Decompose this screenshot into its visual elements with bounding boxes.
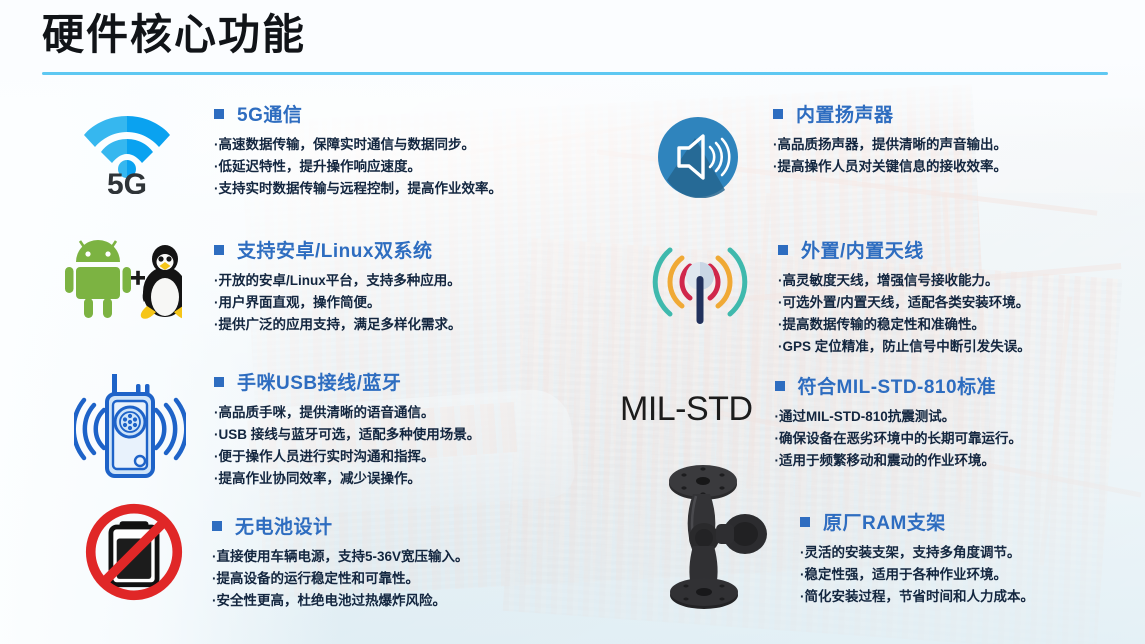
no-battery-icon-svg bbox=[84, 500, 184, 604]
bullet-square-icon bbox=[214, 377, 224, 387]
feature-milstd-text: 符合MIL-STD-810标准 ·通过MIL-STD-810抗震测试。 ·确保设… bbox=[775, 372, 1023, 472]
speaker-icon-svg bbox=[657, 116, 739, 198]
feature-nobattery-text: 无电池设计 ·直接使用车辆电源，支持5-36V宽压输入。 ·提高设备的运行稳定性… bbox=[212, 512, 469, 612]
feature-nobattery: 无电池设计 ·直接使用车辆电源，支持5-36V宽压输入。 ·提高设备的运行稳定性… bbox=[84, 498, 469, 612]
walkie-talkie-icon-svg bbox=[74, 372, 186, 480]
feature-nobattery-heading: 无电池设计 bbox=[212, 512, 469, 539]
feature-speaker-heading-label: 内置扬声器 bbox=[796, 100, 894, 127]
feature-ram-body: ·灵活的安装支架，支持多角度调节。 ·稳定性强，适用于各种作业环境。 ·简化安装… bbox=[800, 542, 1034, 608]
feature-milstd: MIL-STD 符合MIL-STD-810标准 ·通过MIL-STD-810抗震… bbox=[620, 372, 1022, 472]
bullet-square-icon bbox=[212, 521, 222, 531]
feature-5g-line: ·支持实时数据传输与远程控制，提高作业效率。 bbox=[214, 178, 502, 200]
feature-5g-heading-label: 5G通信 bbox=[237, 100, 302, 127]
feature-dualos-body: ·开放的安卓/Linux平台，支持多种应用。 ·用户界面直观，操作简便。 ·提供… bbox=[214, 270, 462, 336]
feature-speaker-body: ·高品质扬声器，提供清晰的声音输出。 ·提高操作人员对关键信息的接收效率。 bbox=[773, 134, 1007, 178]
feature-5g-text: 5G通信 ·高速数据传输，保障实时通信与数据同步。 ·低延迟特性，提升操作响应速… bbox=[214, 100, 502, 200]
feature-speaker-line: ·高品质扬声器，提供清晰的声音输出。 bbox=[773, 134, 1007, 156]
feature-mic-line: ·高品质手咪，提供清晰的语音通信。 bbox=[214, 402, 480, 424]
wifi-5g-icon-svg: 5G bbox=[84, 102, 170, 194]
feature-dualos-line: ·提供广泛的应用支持，满足多样化需求。 bbox=[214, 314, 462, 336]
feature-antenna-line: ·提高数据传输的稳定性和准确性。 bbox=[778, 314, 1031, 336]
feature-nobattery-line: ·直接使用车辆电源，支持5-36V宽压输入。 bbox=[212, 546, 469, 568]
feature-antenna-body: ·高灵敏度天线，增强信号接收能力。 ·可选外置/内置天线，适配各类安装环境。 ·… bbox=[778, 270, 1031, 357]
feature-milstd-heading-label: 符合MIL-STD-810标准 bbox=[798, 372, 997, 399]
feature-dualos: 支持安卓/Linux双系统 ·开放的安卓/Linux平台，支持多种应用。 ·用户… bbox=[64, 236, 462, 336]
feature-milstd-line: ·通过MIL-STD-810抗震测试。 bbox=[775, 406, 1023, 428]
feature-ram-line: ·稳定性强，适用于各种作业环境。 bbox=[800, 564, 1034, 586]
bullet-square-icon bbox=[775, 381, 785, 391]
feature-5g-line: ·低延迟特性，提升操作响应速度。 bbox=[214, 156, 502, 178]
feature-5g-body: ·高速数据传输，保障实时通信与数据同步。 ·低延迟特性，提升操作响应速度。 ·支… bbox=[214, 134, 502, 200]
speaker-icon bbox=[657, 116, 739, 203]
feature-speaker-line: ·提高操作人员对关键信息的接收效率。 bbox=[773, 156, 1007, 178]
feature-mic-heading: 手咪USB接线/蓝牙 bbox=[214, 368, 480, 395]
ram-mount-icon-svg bbox=[648, 462, 778, 612]
feature-5g-heading: 5G通信 bbox=[214, 100, 502, 127]
feature-ram: 原厂RAM支架 ·灵活的安装支架，支持多角度调节。 ·稳定性强，适用于各种作业环… bbox=[648, 462, 1034, 617]
antenna-icon-svg bbox=[652, 242, 748, 326]
feature-mic-text: 手咪USB接线/蓝牙 ·高品质手咪，提供清晰的语音通信。 ·USB 接线与蓝牙可… bbox=[214, 368, 480, 489]
feature-nobattery-line: ·安全性更高，杜绝电池过热爆炸风险。 bbox=[212, 590, 469, 612]
feature-speaker-heading: 内置扬声器 bbox=[773, 100, 1007, 127]
wifi-5g-icon: 5G bbox=[84, 102, 170, 199]
feature-antenna-heading-label: 外置/内置天线 bbox=[801, 236, 924, 263]
bullet-square-icon bbox=[800, 517, 810, 527]
bullet-square-icon bbox=[214, 109, 224, 119]
feature-nobattery-line: ·提高设备的运行稳定性和可靠性。 bbox=[212, 568, 469, 590]
feature-5g: 5G 5G通信 ·高速数据传输，保障实时通信与数据同步。 ·低延迟特性，提升操作… bbox=[84, 100, 502, 200]
feature-dualos-line: ·用户界面直观，操作简便。 bbox=[214, 292, 462, 314]
feature-mic: 手咪USB接线/蓝牙 ·高品质手咪，提供清晰的语音通信。 ·USB 接线与蓝牙可… bbox=[74, 368, 480, 489]
feature-dualos-heading: 支持安卓/Linux双系统 bbox=[214, 236, 462, 263]
feature-mic-line: ·USB 接线与蓝牙可选，适配多种使用场景。 bbox=[214, 424, 480, 446]
feature-milstd-heading: 符合MIL-STD-810标准 bbox=[775, 372, 1023, 399]
bullet-square-icon bbox=[773, 109, 783, 119]
feature-mic-line: ·便于操作人员进行实时沟通和指挥。 bbox=[214, 446, 480, 468]
feature-dualos-text: 支持安卓/Linux双系统 ·开放的安卓/Linux平台，支持多种应用。 ·用户… bbox=[214, 236, 462, 336]
feature-mic-line: ·提高作业协同效率，减少误操作。 bbox=[214, 468, 480, 490]
mil-std-text-icon: MIL-STD bbox=[620, 390, 753, 429]
slide-root: 硬件核心功能 5G 5G通信 ·高速数据传输，保障实时通信与数据同步。 ·低延迟… bbox=[0, 0, 1145, 644]
feature-speaker-text: 内置扬声器 ·高品质扬声器，提供清晰的声音输出。 ·提高操作人员对关键信息的接收… bbox=[773, 100, 1007, 178]
no-battery-icon bbox=[84, 500, 184, 609]
feature-antenna-heading: 外置/内置天线 bbox=[778, 236, 1031, 263]
title-divider bbox=[42, 72, 1108, 75]
feature-speaker: 内置扬声器 ·高品质扬声器，提供清晰的声音输出。 ·提高操作人员对关键信息的接收… bbox=[657, 100, 1007, 203]
bullet-square-icon bbox=[214, 245, 224, 255]
feature-antenna-line: ·高灵敏度天线，增强信号接收能力。 bbox=[778, 270, 1031, 292]
feature-ram-line: ·灵活的安装支架，支持多角度调节。 bbox=[800, 542, 1034, 564]
feature-ram-heading: 原厂RAM支架 bbox=[800, 508, 1034, 535]
feature-mic-heading-label: 手咪USB接线/蓝牙 bbox=[237, 368, 401, 395]
feature-ram-heading-label: 原厂RAM支架 bbox=[823, 508, 946, 535]
feature-ram-text: 原厂RAM支架 ·灵活的安装支架，支持多角度调节。 ·稳定性强，适用于各种作业环… bbox=[800, 508, 1034, 608]
ram-mount-icon bbox=[648, 462, 778, 617]
feature-nobattery-heading-label: 无电池设计 bbox=[235, 512, 333, 539]
feature-5g-line: ·高速数据传输，保障实时通信与数据同步。 bbox=[214, 134, 502, 156]
feature-milstd-line: ·确保设备在恶劣环境中的长期可靠运行。 bbox=[775, 428, 1023, 450]
android-linux-icon bbox=[64, 240, 182, 329]
feature-ram-line: ·简化安装过程，节省时间和人力成本。 bbox=[800, 586, 1034, 608]
bullet-square-icon bbox=[778, 245, 788, 255]
antenna-icon bbox=[652, 242, 748, 331]
android-linux-icon-svg bbox=[64, 240, 182, 324]
feature-dualos-heading-label: 支持安卓/Linux双系统 bbox=[237, 236, 432, 263]
walkie-talkie-icon bbox=[74, 372, 186, 485]
feature-antenna-text: 外置/内置天线 ·高灵敏度天线，增强信号接收能力。 ·可选外置/内置天线，适配各… bbox=[778, 236, 1031, 357]
feature-antenna-line: ·可选外置/内置天线，适配各类安装环境。 bbox=[778, 292, 1031, 314]
feature-nobattery-body: ·直接使用车辆电源，支持5-36V宽压输入。 ·提高设备的运行稳定性和可靠性。 … bbox=[212, 546, 469, 612]
page-title: 硬件核心功能 bbox=[42, 12, 306, 58]
svg-text:5G: 5G bbox=[107, 168, 147, 194]
feature-mic-body: ·高品质手咪，提供清晰的语音通信。 ·USB 接线与蓝牙可选，适配多种使用场景。… bbox=[214, 402, 480, 489]
feature-antenna-line: ·GPS 定位精准，防止信号中断引发失误。 bbox=[778, 336, 1031, 358]
feature-dualos-line: ·开放的安卓/Linux平台，支持多种应用。 bbox=[214, 270, 462, 292]
feature-antenna: 外置/内置天线 ·高灵敏度天线，增强信号接收能力。 ·可选外置/内置天线，适配各… bbox=[652, 236, 1031, 357]
